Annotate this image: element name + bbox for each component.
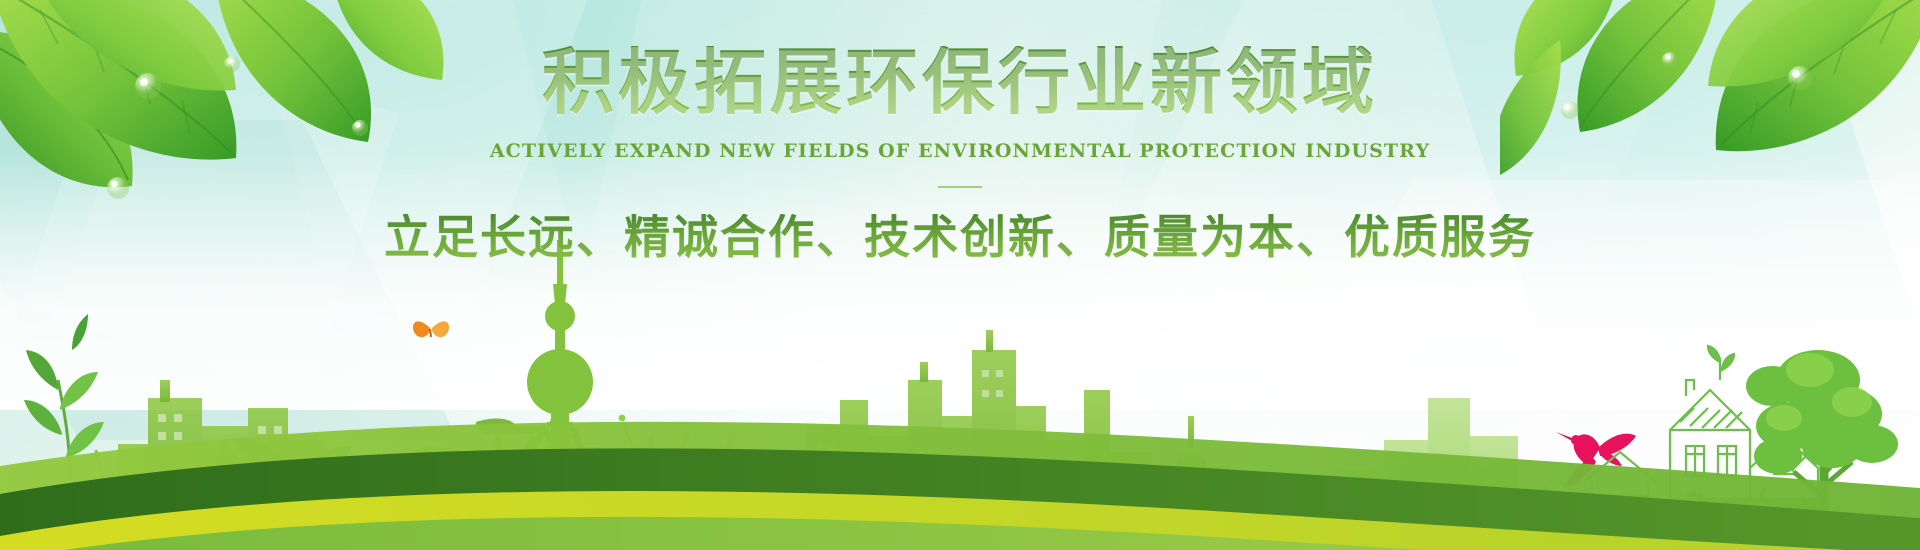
divider xyxy=(938,186,982,188)
text-block: 积极拓展环保行业新领域 ACTIVELY EXPAND NEW FIELDS O… xyxy=(0,46,1920,260)
scenery-layer xyxy=(0,230,1920,550)
butterfly-icon xyxy=(413,321,449,337)
page-title: 积极拓展环保行业新领域 xyxy=(0,46,1920,118)
subtitle-english: ACTIVELY EXPAND NEW FIELDS OF ENVIRONMEN… xyxy=(0,140,1920,162)
tagline: 立足长远、精诚合作、技术创新、质量为本、优质服务 xyxy=(0,214,1920,260)
eco-banner: 积极拓展环保行业新领域 ACTIVELY EXPAND NEW FIELDS O… xyxy=(0,0,1920,550)
